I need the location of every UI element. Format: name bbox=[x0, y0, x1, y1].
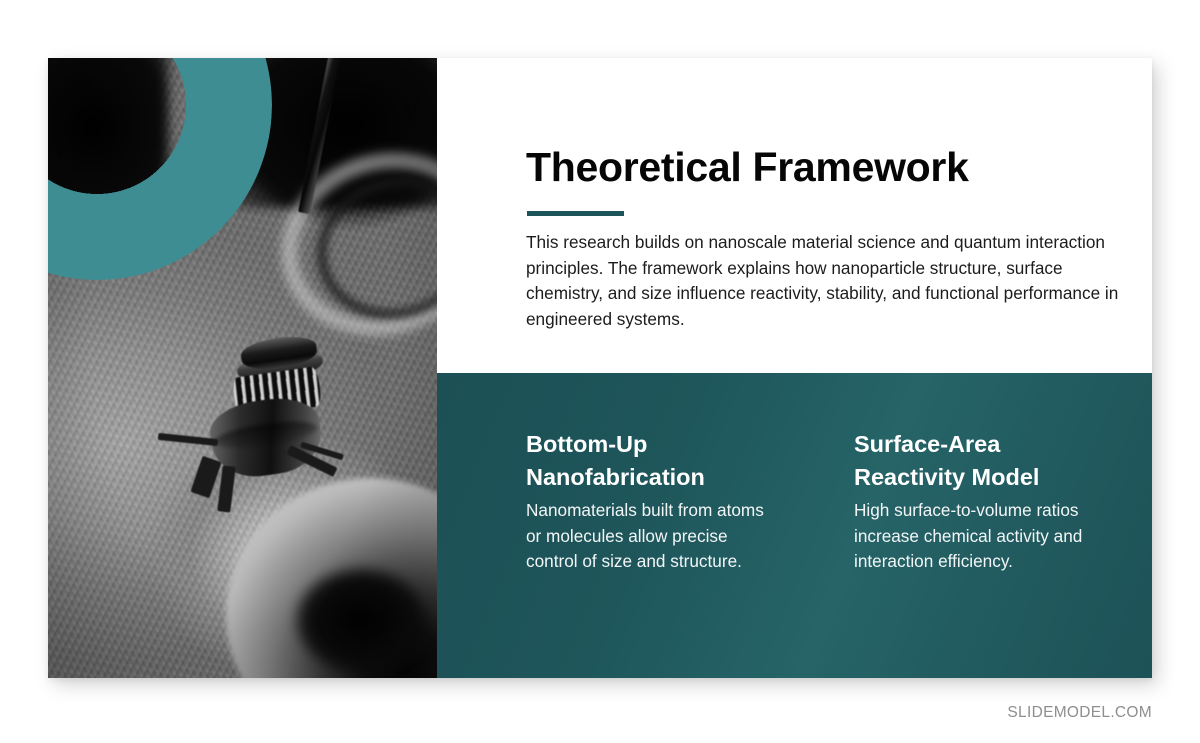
title-accent-rule bbox=[527, 211, 624, 216]
teal-content-panel: Bottom-Up Nanofabrication Nanomaterials … bbox=[437, 373, 1152, 678]
concept-columns: Bottom-Up Nanofabrication Nanomaterials … bbox=[526, 428, 1095, 575]
concept-column-bottom-up-nanofabrication: Bottom-Up Nanofabrication Nanomaterials … bbox=[526, 428, 767, 575]
slide-stage: Theoretical Framework This research buil… bbox=[0, 0, 1200, 743]
watermark-slidemodel: SLIDEMODEL.COM bbox=[1007, 704, 1152, 722]
concept-description: High surface-to-volume ratios increase c… bbox=[854, 498, 1095, 575]
slide-header-area: Theoretical Framework This research buil… bbox=[437, 58, 1152, 373]
lead-paragraph: This research builds on nanoscale materi… bbox=[526, 230, 1126, 332]
page-title: Theoretical Framework bbox=[526, 144, 969, 191]
concept-column-surface-area-reactivity-model: Surface-Area Reactivity Model High surfa… bbox=[854, 428, 1095, 575]
slide-photo bbox=[48, 58, 437, 678]
slide-card: Theoretical Framework This research buil… bbox=[48, 58, 1152, 678]
concept-title: Bottom-Up Nanofabrication bbox=[526, 428, 767, 494]
concept-title: Surface-Area Reactivity Model bbox=[854, 428, 1095, 494]
concept-description: Nanomaterials built from atoms or molecu… bbox=[526, 498, 767, 575]
